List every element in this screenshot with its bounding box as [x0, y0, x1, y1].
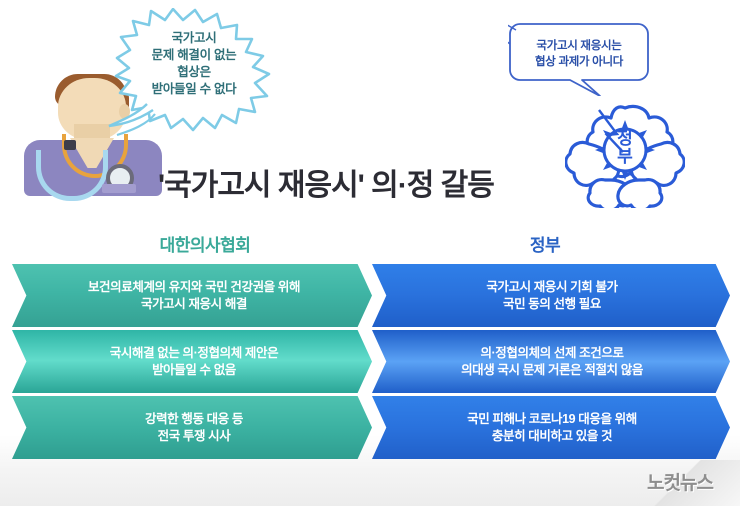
government-bubble-line-1: 국가고시 재응시는 — [508, 38, 650, 54]
kma-statement-3-line-2: 전국 투쟁 시사 — [145, 428, 243, 445]
column-header-kma: 대한의사협회 — [60, 231, 350, 256]
column-header-kma-label: 대한의사협회 — [160, 236, 251, 255]
government-statement-1: 국가고시 재응시 기회 불가 국민 동의 선행 필요 — [372, 264, 730, 327]
seal-char-1: 정 — [617, 129, 633, 148]
doctor-speech-bubble: 국가고시 문제 해결이 없는 협상은 받아들일 수 없다 — [103, 8, 285, 136]
government-bubble-text: 국가고시 재응시는 협상 과제가 아니다 — [508, 38, 650, 70]
doctor-bubble-line-1: 국가고시 — [103, 30, 285, 47]
kma-statement-3: 강력한 행동 대응 등 전국 투쟁 시사 — [12, 396, 372, 459]
government-emblem-icon: 정 부 — [565, 104, 685, 208]
table-row: 강력한 행동 대응 등 전국 투쟁 시사 국민 피해나 코로나19 대응을 위해… — [0, 396, 740, 459]
doctor-pocket-icon — [102, 184, 136, 193]
page-title: '국가고시 재응시' 의·정 갈등 — [158, 160, 494, 204]
government-statement-2-line-1: 의·정협의체의 선제 조건으로 — [461, 345, 643, 362]
kma-statement-1-line-1: 보건의료체계의 유지와 국민 건강권을 위해 — [88, 279, 300, 296]
government-statement-2-line-2: 의대생 국시 문제 거론은 적절치 않음 — [461, 362, 643, 379]
stethoscope-clip-icon — [64, 140, 76, 150]
column-header-government-label: 정부 — [530, 236, 560, 255]
government-statement-3-line-2: 충분히 대비하고 있을 것 — [467, 428, 637, 445]
government-bubble-line-2: 협상 과제가 아니다 — [508, 54, 650, 70]
government-statement-1-line-1: 국가고시 재응시 기회 불가 — [486, 279, 617, 296]
nocut-news-logo-text: 노컷뉴스 — [632, 468, 728, 495]
kma-statement-3-line-1: 강력한 행동 대응 등 — [145, 411, 243, 428]
kma-statement-2: 국시해결 없는 의·정협의체 제안은 받아들일 수 없음 — [12, 330, 372, 393]
government-speech-bubble: 국가고시 재응시는 협상 과제가 아니다 — [508, 22, 650, 92]
comparison-table: 보건의료체계의 유지와 국민 건강권을 위해 국가고시 재응시 해결 국가고시 … — [0, 264, 740, 462]
doctor-bubble-line-4: 받아들일 수 없다 — [103, 81, 285, 98]
doctor-bubble-line-2: 문제 해결이 없는 — [103, 47, 285, 64]
doctor-bubble-line-3: 협상은 — [103, 64, 285, 81]
kma-statement-2-line-1: 국시해결 없는 의·정협의체 제안은 — [110, 345, 278, 362]
table-row: 국시해결 없는 의·정협의체 제안은 받아들일 수 없음 의·정협의체의 선제 … — [0, 330, 740, 393]
infographic-canvas: 국가고시 문제 해결이 없는 협상은 받아들일 수 없다 국가고시 재응시는 협… — [0, 0, 740, 506]
government-seal: 정 부 — [565, 104, 685, 208]
kma-statement-1-line-2: 국가고시 재응시 해결 — [88, 296, 300, 313]
government-statement-2: 의·정협의체의 선제 조건으로 의대생 국시 문제 거론은 적절치 않음 — [372, 330, 730, 393]
government-statement-3-line-1: 국민 피해나 코로나19 대응을 위해 — [467, 411, 637, 428]
kma-statement-2-line-2: 받아들일 수 없음 — [110, 362, 278, 379]
page-title-text: '국가고시 재응시' 의·정 갈등 — [158, 169, 494, 202]
doctor-bubble-text: 국가고시 문제 해결이 없는 협상은 받아들일 수 없다 — [103, 30, 285, 98]
table-row: 보건의료체계의 유지와 국민 건강권을 위해 국가고시 재응시 해결 국가고시 … — [0, 264, 740, 327]
government-statement-3: 국민 피해나 코로나19 대응을 위해 충분히 대비하고 있을 것 — [372, 396, 730, 459]
kma-statement-1: 보건의료체계의 유지와 국민 건강권을 위해 국가고시 재응시 해결 — [12, 264, 372, 327]
government-statement-1-line-2: 국민 동의 선행 필요 — [486, 296, 617, 313]
column-header-government: 정부 — [400, 231, 690, 256]
nocut-news-logo: 노컷뉴스 — [632, 464, 728, 498]
